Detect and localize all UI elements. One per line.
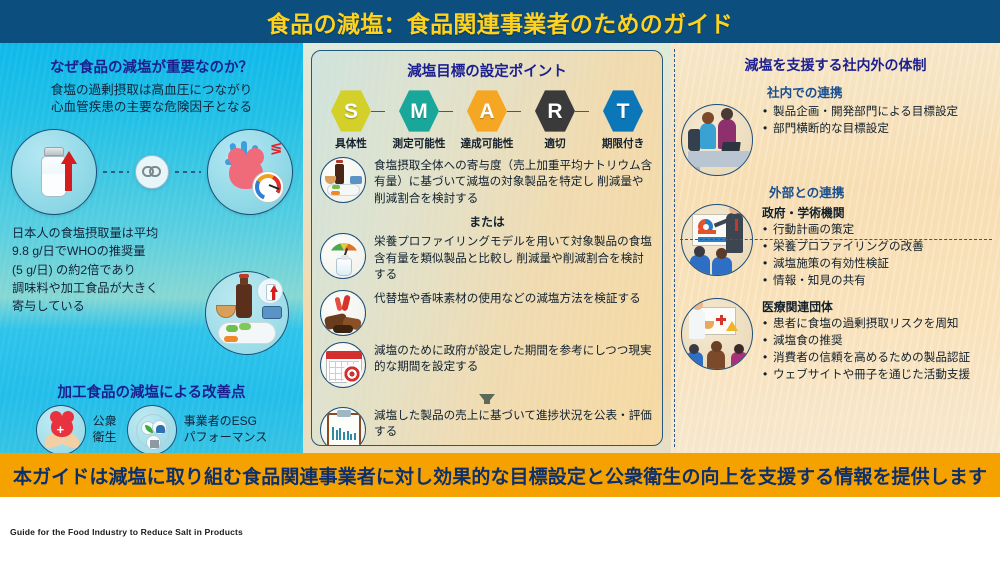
left-subheading-line-2: 心血管疾患の主要な危険因子となる [0, 99, 303, 116]
list-item: 製品企画・開発部門による目標設定 [762, 104, 992, 120]
benefits-row: + 公衆 衛生 事業者のESG パフォーマンス [0, 405, 303, 453]
step-item: 食塩摂取全体への寄与度（売上加重平均ナトリウム含有量）に基づいて減塩の対象製品を… [320, 157, 654, 207]
smart-item-s: S 具体性 [317, 89, 385, 151]
left-paragraph-line-3: (5 g/日) の約2倍であり [12, 261, 190, 279]
medical-seminar-icon [681, 298, 753, 370]
step-text: 減塩した製品の売上に基づいて進捗状況を公表・評価する [374, 407, 654, 441]
smart-item-m: M 測定可能性 [385, 89, 453, 151]
chain-link-icon [135, 155, 169, 189]
list-item: 栄養プロファイリングの改善 [762, 239, 992, 255]
smart-connector-2 [439, 111, 453, 112]
heart-in-hands-icon: + [36, 405, 86, 453]
bottom-banner: 本ガイドは減塩に取り組む食品関連事業者に対し効果的な目標設定と公衆衛生の向上を支… [0, 453, 1000, 497]
down-arrow-icon [479, 394, 495, 404]
external-medical-label: 医療関連団体 [762, 298, 992, 315]
hex-a-icon: A [467, 89, 507, 133]
horizontal-divider [680, 239, 992, 240]
infographic-poster: 食品の減塩：食品関連事業者のためのガイド なぜ食品の減塩が重要なのか？ 食塩の過… [0, 0, 1000, 562]
list-item: 消費者の信頼を高めるための製品認証 [762, 350, 992, 366]
step-item: 栄養プロファイリングモデルを用いて対象製品の食塩含有量を類似製品と比較し 削減量… [320, 233, 654, 283]
smart-label-s: 具体性 [317, 136, 385, 151]
calendar-target-icon [320, 342, 366, 388]
nutrient-meter-icon [320, 233, 366, 279]
left-heading-2: 加工食品の減塩による改善点 [0, 381, 303, 402]
step-text: 代替塩や香味素材の使用などの減塩方法を検証する [374, 290, 654, 307]
step-text: 栄養プロファイリングモデルを用いて対象製品の食塩含有量を類似製品と比較し 削減量… [374, 233, 654, 283]
benefit-public-health-label: 公衆 衛生 [93, 414, 117, 445]
external-gov-list: 行動計画の策定 栄養プロファイリングの改善 減塩施策の有効性検証 情報・知見の共… [762, 222, 992, 289]
office-meeting-icon [681, 104, 753, 176]
smart-label-r: 適切 [521, 136, 589, 151]
step-item: 代替塩や香味素材の使用などの減塩方法を検証する [320, 290, 654, 336]
list-item: 減塩施策の有効性検証 [762, 256, 992, 272]
smart-item-a: A 達成可能性 [453, 89, 521, 151]
left-paragraph-line-1: 日本人の食塩摂取量は平均 [12, 224, 190, 242]
internal-subheading: 社内での連携 [767, 82, 1000, 101]
smart-item-t: T 期限付き [589, 89, 657, 151]
left-subheading: 食塩の過剰摂取は高血圧につながり 心血管疾患の主要な危険因子となる [0, 82, 303, 116]
body-area: なぜ食品の減塩が重要なのか？ 食塩の過剰摂取は高血圧につながり 心血管疾患の主要… [0, 43, 1000, 453]
internal-list: 製品企画・開発部門による目標設定 部門横断的な目標設定 [762, 104, 992, 137]
left-paragraph-line-4: 調味料や加工食品が大きく [12, 279, 190, 297]
banner-text: 本ガイドは減塩に取り組む食品関連事業者に対し効果的な目標設定と公衆衛生の向上を支… [13, 462, 987, 489]
smart-connector-3 [507, 111, 521, 112]
spices-icon [320, 290, 366, 336]
center-steps: 食塩摂取全体への寄与度（売上加重平均ナトリウム含有量）に基づいて減塩の対象製品を… [312, 157, 662, 446]
vertical-divider [674, 49, 675, 447]
center-column: 減塩目標の設定ポイント S 具体性 M 測定可能性 [303, 43, 671, 453]
benefit-esg: 事業者のESG パフォーマンス [127, 405, 268, 453]
benefit-esg-label: 事業者のESG パフォーマンス [184, 414, 268, 445]
list-item: 部門横断的な目標設定 [762, 121, 992, 137]
external-gov-text: 政府・学術機関 行動計画の策定 栄養プロファイリングの改善 減塩施策の有効性検証… [762, 204, 992, 290]
list-item: 減塩食の推奨 [762, 333, 992, 349]
left-cause-flow: ≶ [0, 126, 303, 218]
hex-s-icon: S [331, 89, 371, 133]
step-item: 減塩した製品の売上に基づいて進捗状況を公表・評価する [320, 407, 654, 446]
japanese-meal-icon [205, 271, 289, 355]
left-heading: なぜ食品の減塩が重要なのか？ [0, 56, 303, 77]
left-paragraph-line-2: 9.8 g/日でWHOの推奨量 [12, 242, 190, 260]
list-item: 行動計画の策定 [762, 222, 992, 238]
smart-label-m: 測定可能性 [385, 136, 453, 151]
left-column: なぜ食品の減塩が重要なのか？ 食塩の過剰摂取は高血圧につながり 心血管疾患の主要… [0, 43, 303, 453]
smart-diagram: S 具体性 M 測定可能性 A [312, 89, 662, 151]
right-heading: 減塩を支援する社内外の体制 [671, 55, 1000, 75]
smart-item-r: R 適切 [521, 89, 589, 151]
external-gov-block: 政府・学術機関 行動計画の策定 栄養プロファイリングの改善 減塩施策の有効性検証… [671, 204, 1000, 290]
smart-label-a: 達成可能性 [453, 136, 521, 151]
external-medical-text: 医療関連団体 患者に食塩の過剰摂取リスクを周知 減塩食の推奨 消費者の信頼を高め… [762, 298, 992, 384]
step-text: 食塩摂取全体への寄与度（売上加重平均ナトリウム含有量）に基づいて減塩の対象製品を… [374, 157, 654, 207]
heart-blood-pressure-icon: ≶ [207, 129, 293, 215]
external-medical-list: 患者に食塩の過剰摂取リスクを周知 減塩食の推奨 消費者の信頼を高めるための製品認… [762, 316, 992, 383]
flow-dots-right [175, 171, 201, 173]
esg-circle-icon [127, 405, 177, 453]
hex-r-icon: R [535, 89, 575, 133]
presentation-icon [681, 204, 753, 276]
center-heading: 減塩目標の設定ポイント [312, 60, 662, 81]
smart-connector-1 [371, 111, 385, 112]
salt-shaker-icon [11, 129, 97, 215]
internal-block: 製品企画・開発部門による目標設定 部門横断的な目標設定 [671, 104, 1000, 176]
step-item: 減塩のために政府が設定した期間を参考にしつつ現実的な期間を設定する [320, 342, 654, 388]
center-card: 減塩目標の設定ポイント S 具体性 M 測定可能性 [311, 50, 663, 446]
page-title: 食品の減塩：食品関連事業者のためのガイド [267, 5, 733, 39]
left-paragraph: 日本人の食塩摂取量は平均 9.8 g/日でWHOの推奨量 (5 g/日) の約2… [12, 224, 190, 315]
flow-dots-left [103, 171, 129, 173]
list-item: 情報・知見の共有 [762, 273, 992, 289]
footer-caption: Guide for the Food Industry to Reduce Sa… [10, 527, 243, 537]
list-item: 患者に食塩の過剰摂取リスクを周知 [762, 316, 992, 332]
benefit-public-health: + 公衆 衛生 [36, 405, 117, 453]
food-plate-icon [320, 157, 366, 203]
clipboard-chart-icon [320, 407, 366, 446]
title-bar: 食品の減塩：食品関連事業者のためのガイド [0, 0, 1000, 43]
left-paragraph-line-5: 寄与している [12, 297, 190, 315]
hex-m-icon: M [399, 89, 439, 133]
internal-text: 製品企画・開発部門による目標設定 部門横断的な目標設定 [762, 104, 992, 176]
external-subheading: 外部との連携 [769, 182, 1000, 201]
list-item: ウェブサイトや冊子を通じた活動支援 [762, 367, 992, 383]
or-label: または [312, 213, 662, 230]
smart-label-t: 期限付き [589, 136, 657, 151]
external-gov-label: 政府・学術機関 [762, 204, 992, 221]
step-text: 減塩のために政府が設定した期間を参考にしつつ現実的な期間を設定する [374, 342, 654, 376]
right-column: 減塩を支援する社内外の体制 社内での連携 製品企画・開発部門による目標設定 部門… [671, 43, 1000, 453]
smart-connector-4 [575, 111, 589, 112]
left-subheading-line-1: 食塩の過剰摂取は高血圧につながり [0, 82, 303, 99]
hex-t-icon: T [603, 89, 643, 133]
external-medical-block: 医療関連団体 患者に食塩の過剰摂取リスクを周知 減塩食の推奨 消費者の信頼を高め… [671, 298, 1000, 384]
